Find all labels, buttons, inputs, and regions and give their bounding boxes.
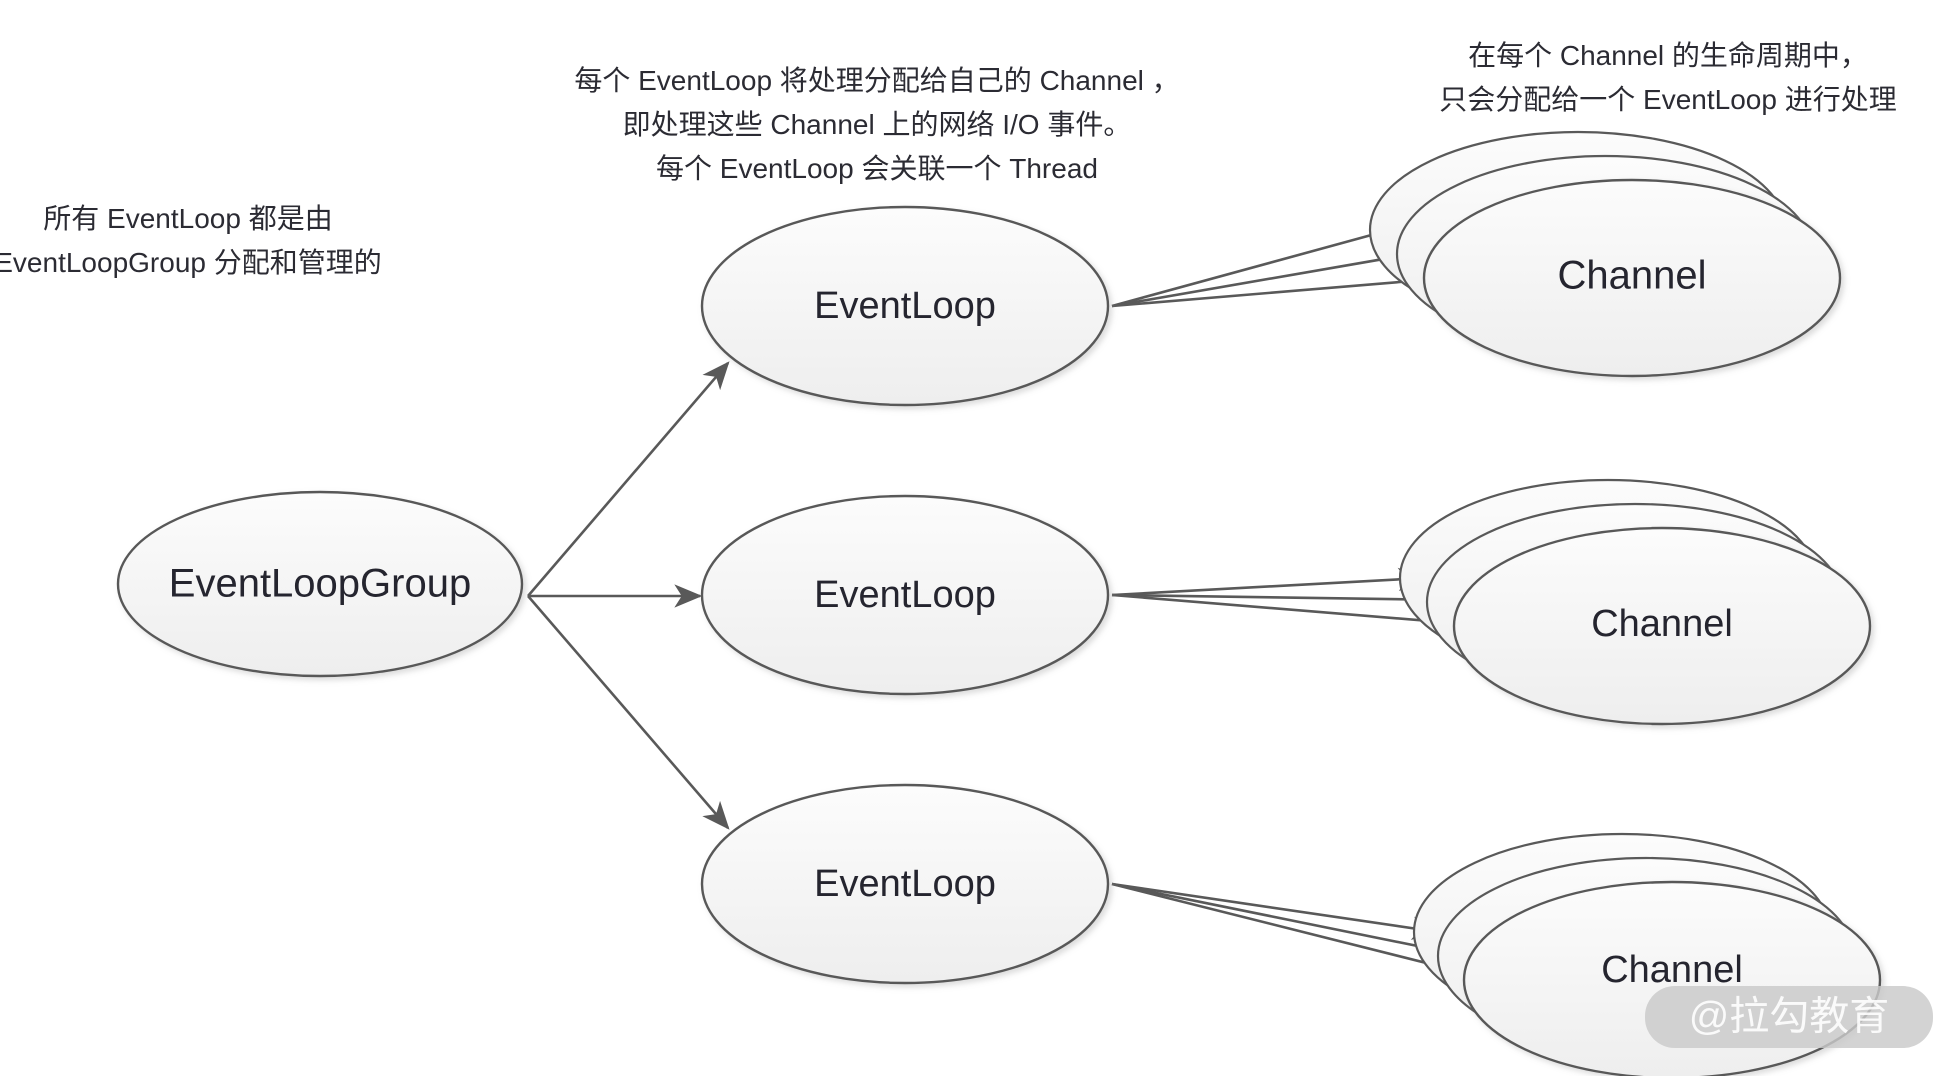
edge-eventloop-3-channel-b [1112,884,1462,955]
annotation-center-line-2: 即处理这些 Channel 上的网络 I/O 事件。 [623,109,1132,140]
edge-group-to-eventloop-1 [528,363,728,596]
annotation-center-line-3: 每个 EventLoop 会关联一个 Thread [656,153,1098,184]
annotation-center-line-1: 每个 EventLoop 将处理分配给自己的 Channel ， [574,65,1179,96]
node-eventloop-3[interactable]: EventLoop [702,785,1108,983]
annotation-right: 在每个 Channel 的生命周期中， 只会分配给一个 EventLoop 进行… [1439,40,1896,115]
eventloop-1-label: EventLoop [814,285,996,327]
watermark: @拉勾教育 [1645,986,1933,1048]
edge-eventloop-2-channel-a [1112,578,1424,595]
annotation-right-line-1: 在每个 Channel 的生命周期中， [1468,40,1868,71]
edge-eventloop-1-channel-b [1112,252,1424,306]
node-channel-stack-1[interactable]: Channel [1370,132,1840,376]
annotation-left: 所有 EventLoop 都是由 EventLoopGroup 分配和管理的 [0,203,382,278]
eventloop-3-label: EventLoop [814,863,996,905]
node-eventloopgroup[interactable]: EventLoopGroup [118,492,522,676]
diagram-canvas: 所有 EventLoop 都是由 EventLoopGroup 分配和管理的 每… [0,0,1942,1076]
annotation-right-line-2: 只会分配给一个 EventLoop 进行处理 [1439,84,1896,115]
eventloop-2-label: EventLoop [814,574,996,616]
node-eventloop-1[interactable]: EventLoop [702,207,1108,405]
annotation-center: 每个 EventLoop 将处理分配给自己的 Channel ， 即处理这些 C… [574,65,1179,184]
node-eventloop-2[interactable]: EventLoop [702,496,1108,694]
channel-stack-3-label: Channel [1601,949,1743,991]
edges-group-to-eventloops [528,363,728,828]
annotation-left-line-2: EventLoopGroup 分配和管理的 [0,247,382,278]
eventloopgroup-label: EventLoopGroup [169,562,471,606]
channel-stack-2-label: Channel [1591,603,1733,645]
edge-group-to-eventloop-3 [528,596,728,828]
annotation-left-line-1: 所有 EventLoop 都是由 [43,203,332,234]
node-channel-stack-2[interactable]: Channel [1400,480,1870,724]
watermark-label: @拉勾教育 [1689,995,1890,1039]
channel-stack-1-label: Channel [1557,254,1706,298]
